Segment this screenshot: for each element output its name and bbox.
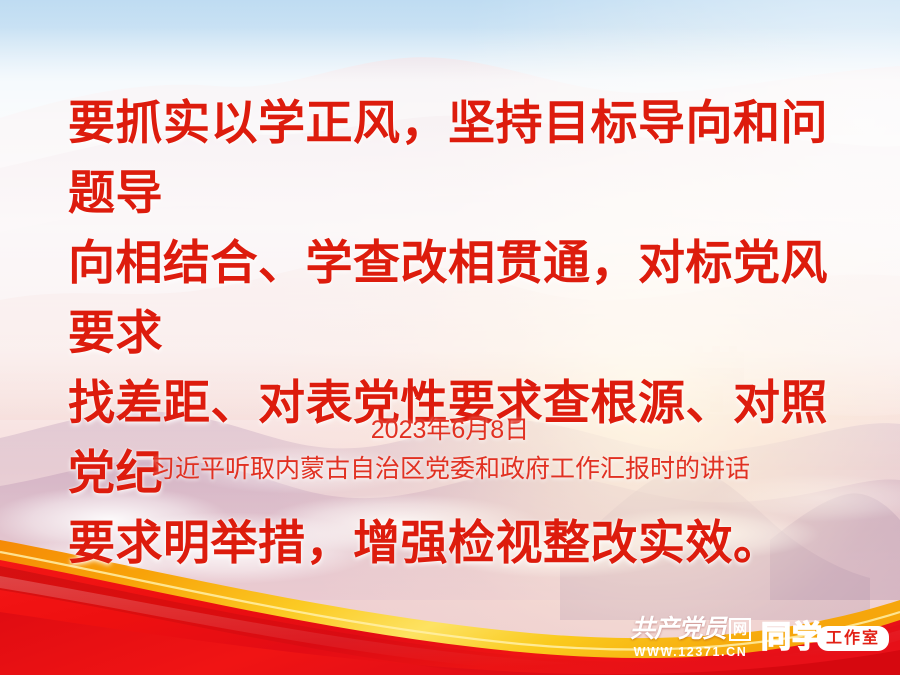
brand-website-url[interactable]: WWW.12371.CN: [634, 645, 748, 659]
speech-date: 2023年6月8日: [0, 412, 900, 448]
brand-net-badge: 网: [729, 618, 751, 641]
headline-quote: 要抓实以学正风，坚持目标导向和问题导 向相结合、学查改相贯通，对标党风要求 找差…: [68, 88, 858, 578]
poster-canvas: 要抓实以学正风，坚持目标导向和问题导 向相结合、学查改相贯通，对标党风要求 找差…: [0, 0, 900, 675]
brand-name-row: 共产党员 网: [630, 617, 751, 643]
studio-label-pill: 工作室: [817, 626, 889, 651]
gongchandangyuan-logo[interactable]: 共产党员 网 WWW.12371.CN: [630, 617, 751, 659]
tongxue-studio-logo[interactable]: 同学 工作室: [761, 622, 889, 654]
studio-name-text: 同学: [761, 622, 823, 654]
speech-source: 习近平听取内蒙古自治区党委和政府工作汇报时的讲话: [0, 450, 900, 488]
brand-calligraphy-text: 共产党员: [630, 617, 726, 643]
attribution-block: 2023年6月8日 习近平听取内蒙古自治区党委和政府工作汇报时的讲话: [0, 412, 900, 488]
site-logo-group[interactable]: 共产党员 网 WWW.12371.CN 同学 工作室: [630, 612, 892, 664]
